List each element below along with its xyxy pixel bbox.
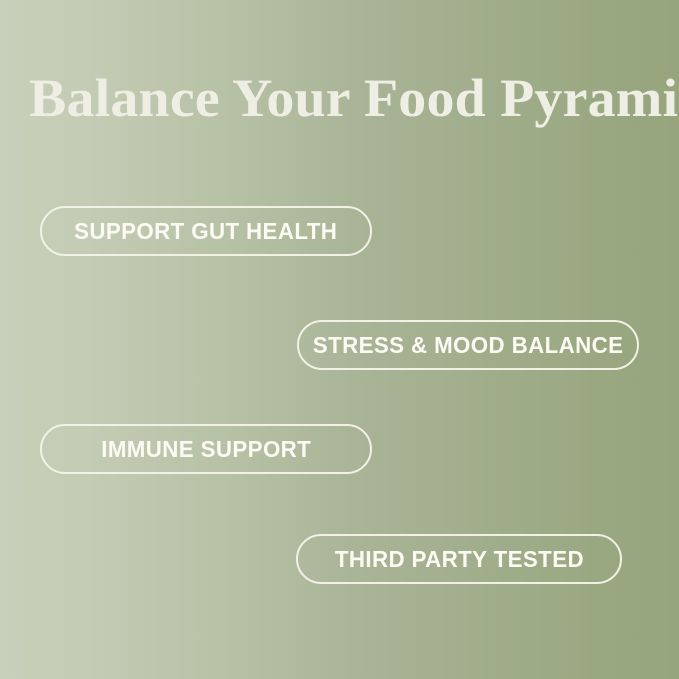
benefit-pill-stress-mood-balance[interactable]: STRESS & MOOD BALANCE (297, 320, 639, 370)
benefit-pill-immune-support[interactable]: IMMUNE SUPPORT (40, 424, 372, 474)
promo-banner: Balance Your Food Pyramid SUPPORT GUT HE… (0, 0, 679, 679)
benefit-pill-label: IMMUNE SUPPORT (101, 437, 311, 461)
benefit-pill-third-party-tested[interactable]: THIRD PARTY TESTED (296, 534, 622, 584)
benefit-pill-support-gut-health[interactable]: SUPPORT GUT HEALTH (40, 206, 372, 256)
benefit-pill-label: THIRD PARTY TESTED (334, 547, 583, 571)
benefit-pill-label: STRESS & MOOD BALANCE (313, 333, 624, 357)
page-title: Balance Your Food Pyramid (29, 69, 679, 127)
benefit-pill-label: SUPPORT GUT HEALTH (74, 219, 337, 243)
